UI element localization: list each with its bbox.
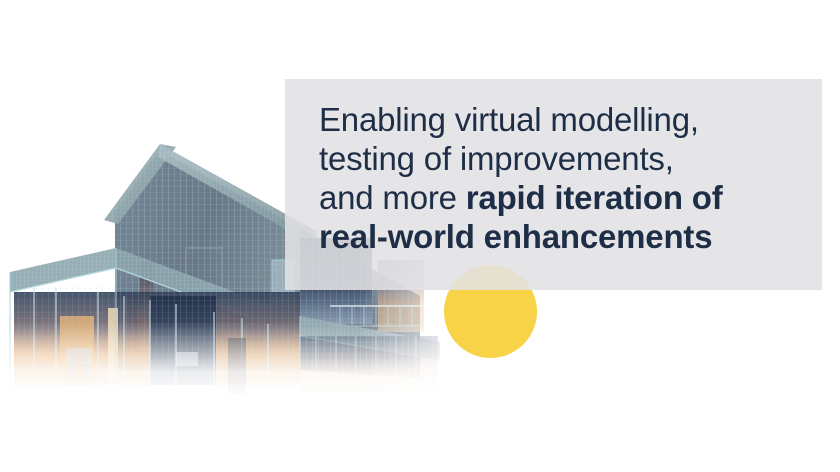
- page-title: Enabling virtual modelling, testing of i…: [319, 100, 819, 256]
- headline-line-3-strong: rapid iteration of: [466, 179, 723, 216]
- headline-line-2-light: testing of improvements,: [319, 140, 674, 177]
- headline-line-4: real-world enhancements: [319, 217, 819, 256]
- headline-line-1: Enabling virtual modelling,: [319, 100, 819, 139]
- headline-line-2: testing of improvements,: [319, 139, 819, 178]
- promotional-banner: Enabling virtual modelling, testing of i…: [0, 0, 840, 472]
- headline-line-4-strong: real-world enhancements: [319, 218, 712, 255]
- headline-line-3-light: and more: [319, 179, 466, 216]
- headline-line-1-light: Enabling virtual modelling,: [319, 101, 699, 138]
- headline-line-3: and more rapid iteration of: [319, 178, 819, 217]
